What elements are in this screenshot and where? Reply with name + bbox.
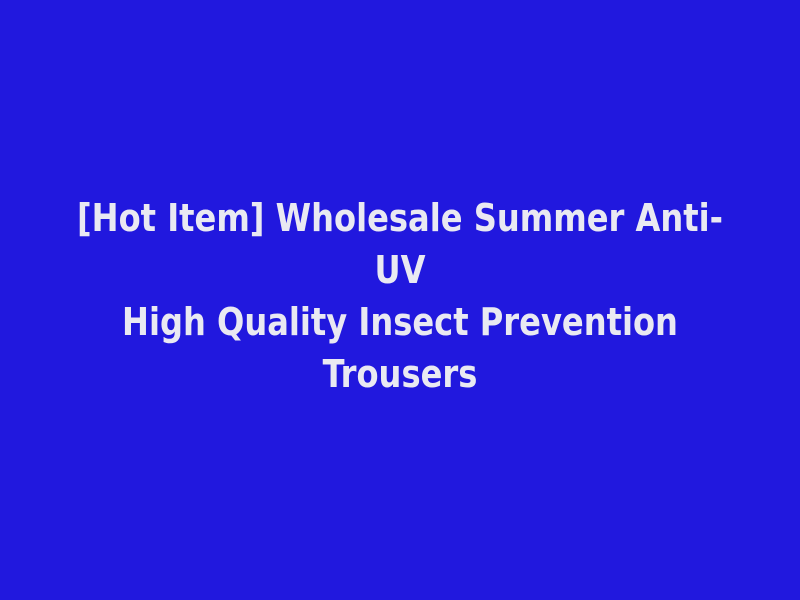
page-title-line-2: High Quality Insect Prevention	[65, 296, 734, 348]
product-title-card: [Hot Item] Wholesale Summer Anti-UV High…	[0, 0, 800, 600]
title-inner: [Hot Item] Wholesale Summer Anti-UV High…	[44, 192, 756, 400]
page-title: [Hot Item] Wholesale Summer Anti-UV High…	[65, 192, 734, 400]
title-block: [Hot Item] Wholesale Summer Anti-UV High…	[0, 0, 800, 600]
page-title-line-1: [Hot Item] Wholesale Summer Anti-UV	[65, 192, 734, 296]
page-title-line-3: Trousers	[65, 348, 734, 400]
